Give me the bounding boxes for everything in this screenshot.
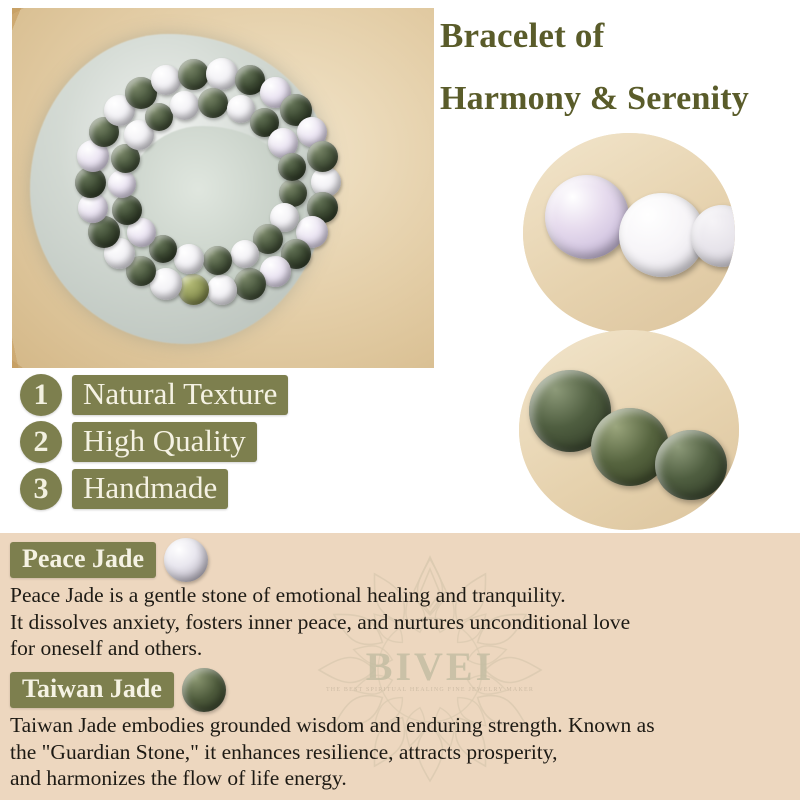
feature-item: 2 High Quality bbox=[20, 421, 288, 463]
taiwan-jade-tag: Taiwan Jade bbox=[10, 672, 174, 707]
bead-lavender bbox=[545, 175, 629, 259]
peace-jade-bead-icon bbox=[164, 538, 208, 582]
bracelet-bead bbox=[174, 244, 204, 274]
bracelet-bead bbox=[178, 274, 209, 305]
bracelet-bead bbox=[178, 59, 209, 90]
peace-jade-detail-photo bbox=[523, 133, 735, 333]
stone-meanings-section: BIVEI THE BEST SPIRITUAL HEALING FINE JE… bbox=[0, 533, 800, 800]
bracelet-beads bbox=[58, 32, 358, 332]
peace-jade-block: Peace Jade Peace Jade is a gentle stone … bbox=[10, 541, 630, 662]
hero-product-photo bbox=[12, 8, 434, 368]
bracelet-bead bbox=[231, 240, 259, 268]
bracelet-bead bbox=[108, 170, 136, 198]
page-title: Bracelet of Harmony & Serenity bbox=[440, 18, 792, 116]
peace-jade-tag: Peace Jade bbox=[10, 542, 156, 577]
feature-list: 1 Natural Texture 2 High Quality 3 Handm… bbox=[20, 374, 288, 515]
taiwan-jade-block: Taiwan Jade Taiwan Jade embodies grounde… bbox=[10, 671, 655, 792]
feature-number-badge: 3 bbox=[20, 468, 62, 510]
feature-label: Natural Texture bbox=[72, 375, 288, 416]
bracelet-bead bbox=[307, 141, 338, 172]
bracelet-bead bbox=[151, 65, 181, 95]
title-line-1: Bracelet of bbox=[440, 18, 792, 55]
bracelet-bead bbox=[203, 246, 232, 275]
taiwan-jade-header: Taiwan Jade bbox=[10, 671, 655, 709]
bracelet-bead bbox=[198, 88, 228, 118]
taiwan-jade-bead-icon bbox=[182, 668, 226, 712]
feature-number-badge: 1 bbox=[20, 374, 62, 416]
feature-item: 3 Handmade bbox=[20, 468, 288, 510]
feature-number-badge: 2 bbox=[20, 421, 62, 463]
feature-item: 1 Natural Texture bbox=[20, 374, 288, 416]
taiwan-jade-description: Taiwan Jade embodies grounded wisdom and… bbox=[10, 712, 655, 792]
bracelet-bead bbox=[207, 275, 237, 305]
product-infographic: Bracelet of Harmony & Serenity 1 Natural… bbox=[0, 0, 800, 800]
peace-jade-header: Peace Jade bbox=[10, 541, 630, 579]
bead-jade-3 bbox=[655, 430, 727, 500]
bracelet-bead bbox=[170, 91, 199, 120]
feature-label: Handmade bbox=[72, 469, 228, 510]
taiwan-jade-detail-photo bbox=[519, 330, 739, 530]
title-line-2: Harmony & Serenity bbox=[440, 81, 792, 117]
peace-jade-description: Peace Jade is a gentle stone of emotiona… bbox=[10, 582, 630, 662]
bracelet-bead bbox=[206, 58, 238, 90]
top-section: Bracelet of Harmony & Serenity 1 Natural… bbox=[0, 0, 800, 533]
feature-label: High Quality bbox=[72, 422, 257, 463]
bracelet-bead bbox=[278, 153, 306, 181]
bracelet-bead bbox=[234, 268, 266, 300]
bracelet-bead bbox=[112, 195, 142, 225]
bracelet-bead bbox=[145, 103, 173, 131]
